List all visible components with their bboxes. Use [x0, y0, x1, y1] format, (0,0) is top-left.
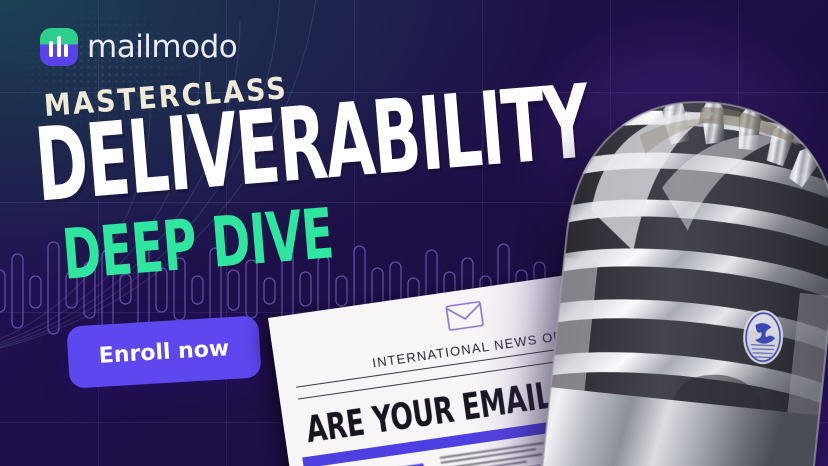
promo-banner: mailmodo MASTERCLASS DELIVERABILITY DEEP…	[0, 0, 828, 466]
hero-subtitle: DEEP DIVE	[60, 200, 336, 291]
vintage-microphone	[510, 56, 828, 466]
brand-logo[interactable]: mailmodo	[40, 28, 237, 66]
mailmodo-bars-icon	[40, 28, 78, 66]
brand-name: mailmodo	[87, 29, 237, 65]
enroll-now-button[interactable]: Enroll now	[66, 315, 261, 388]
